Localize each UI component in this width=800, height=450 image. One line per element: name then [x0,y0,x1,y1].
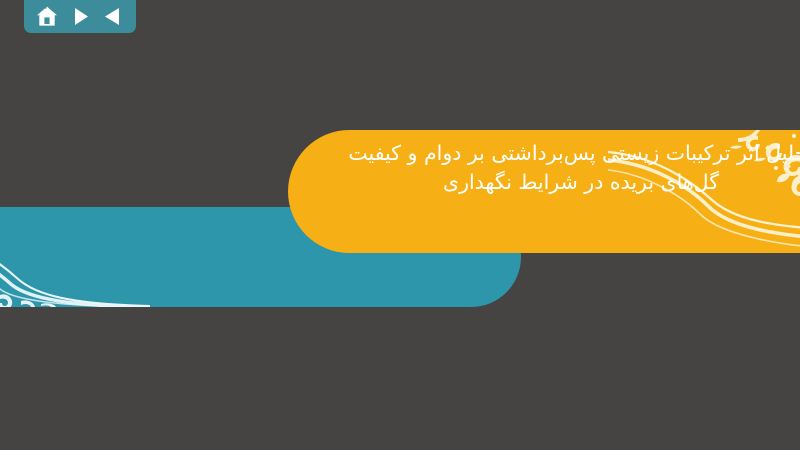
triangle-right-icon [72,7,89,26]
previous-button[interactable] [99,4,127,30]
page-title: تحلیل اثر ترکیبات زیستی پس‌برداشتی بر دو… [328,139,800,197]
navigation-bar [24,0,136,33]
triangle-left-icon [104,7,121,26]
title-card: تحلیل اثر ترکیبات زیستی پس‌برداشتی بر دو… [288,130,800,253]
next-button[interactable] [66,4,94,30]
arabesque-corner-ornament-teal [0,207,150,307]
home-icon [36,6,58,27]
home-button[interactable] [33,4,61,30]
presentation-slide: تحلیل اثر ترکیبات زیستی پس‌برداشتی بر دو… [0,0,800,450]
